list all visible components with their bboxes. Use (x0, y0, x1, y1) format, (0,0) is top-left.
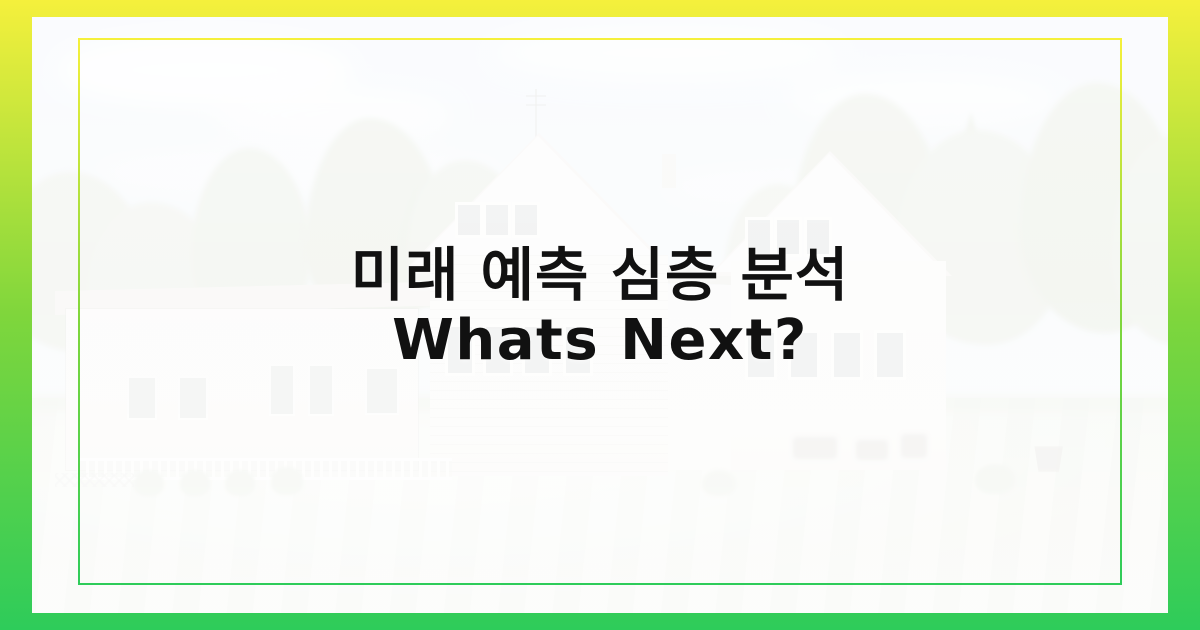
shrub (225, 470, 255, 496)
window (271, 366, 293, 414)
window (129, 378, 155, 418)
patio-furniture (856, 440, 888, 460)
window (486, 205, 508, 235)
shrub (271, 467, 303, 495)
window (458, 205, 480, 235)
window (180, 378, 206, 418)
headline-line-1: 미래 예측 심층 분석 (0, 243, 1200, 308)
shrub (180, 470, 210, 496)
window (310, 366, 332, 414)
headline-line-2: Whats Next? (0, 310, 1200, 373)
lattice-fence (55, 473, 135, 487)
chimney (662, 154, 676, 188)
patio-furniture (901, 434, 927, 458)
window (367, 369, 397, 413)
window (515, 205, 537, 235)
thumbnail-canvas: 미래 예측 심층 분석 Whats Next? (0, 0, 1200, 630)
shrub (975, 464, 1015, 494)
shrub (134, 470, 164, 496)
cloud (486, 23, 846, 83)
shrub (702, 470, 736, 496)
patio-furniture (793, 437, 837, 459)
headline: 미래 예측 심층 분석 Whats Next? (0, 243, 1200, 373)
